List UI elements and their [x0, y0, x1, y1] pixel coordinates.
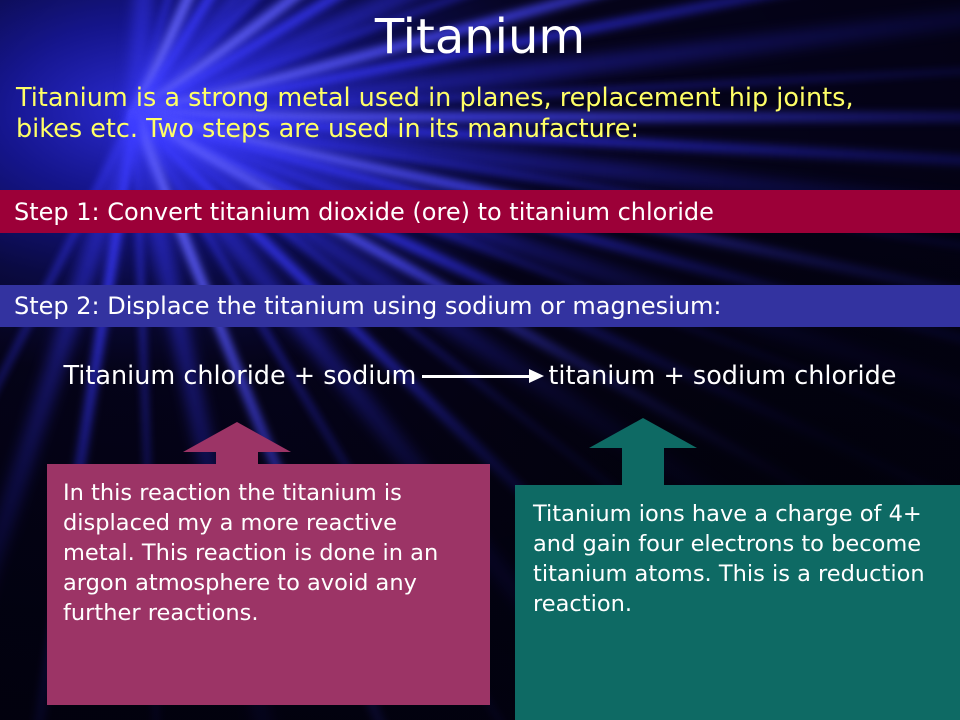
step-2-label: Step 2: Displace the titanium using sodi…: [14, 292, 722, 320]
step-1-bar: Step 1: Convert titanium dioxide (ore) t…: [0, 190, 960, 233]
page-title: Titanium: [0, 12, 960, 62]
callout-displacement-note: In this reaction the titanium is displac…: [47, 464, 490, 705]
intro-paragraph: Titanium is a strong metal used in plane…: [16, 83, 916, 145]
equation-reactants: Titanium chloride + sodium: [63, 361, 416, 391]
slide-canvas: Titanium Titanium is a strong metal used…: [0, 0, 960, 720]
step-2-bar: Step 2: Displace the titanium using sodi…: [0, 285, 960, 327]
word-equation: Titanium chloride + sodium titanium + so…: [0, 357, 960, 395]
equation-products: titanium + sodium chloride: [548, 361, 896, 391]
up-arrow-teal-icon: [589, 418, 697, 492]
callout-reduction-note: Titanium ions have a charge of 4+ and ga…: [515, 485, 960, 720]
step-1-label: Step 1: Convert titanium dioxide (ore) t…: [14, 198, 714, 226]
right-arrow-icon: [422, 367, 544, 385]
